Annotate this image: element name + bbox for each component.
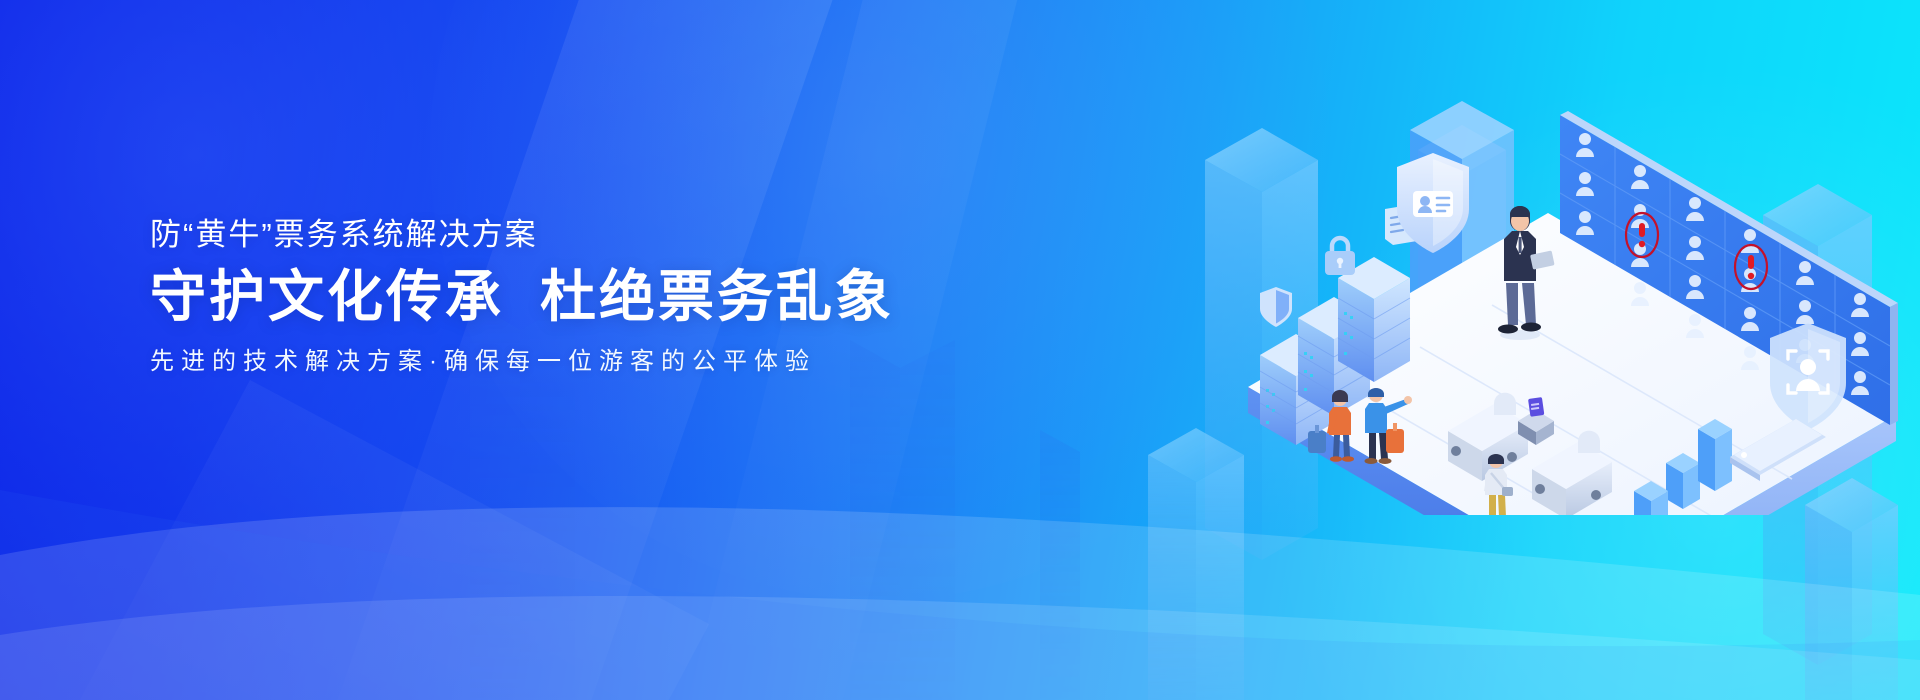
hero-eyebrow: 防“黄牛”票务系统解决方案 xyxy=(150,216,1010,255)
hero-illustration xyxy=(1230,95,1920,515)
hero-headline: 守护文化传承杜绝票务乱象 xyxy=(150,265,1010,330)
security-shield-icon xyxy=(1260,287,1292,327)
hero-text-block: 防“黄牛”票务系统解决方案 守护文化传承杜绝票务乱象 先进的技术解决方案·确保每… xyxy=(150,216,1010,377)
lock-icon xyxy=(1325,238,1355,275)
hero-banner: 防“黄牛”票务系统解决方案 守护文化传承杜绝票务乱象 先进的技术解决方案·确保每… xyxy=(0,0,1920,700)
headline-part-1: 守护文化传承 xyxy=(150,265,504,328)
headline-part-2: 杜绝票务乱象 xyxy=(540,265,894,328)
hero-subline: 先进的技术解决方案·确保每一位游客的公平体验 xyxy=(150,346,1010,377)
